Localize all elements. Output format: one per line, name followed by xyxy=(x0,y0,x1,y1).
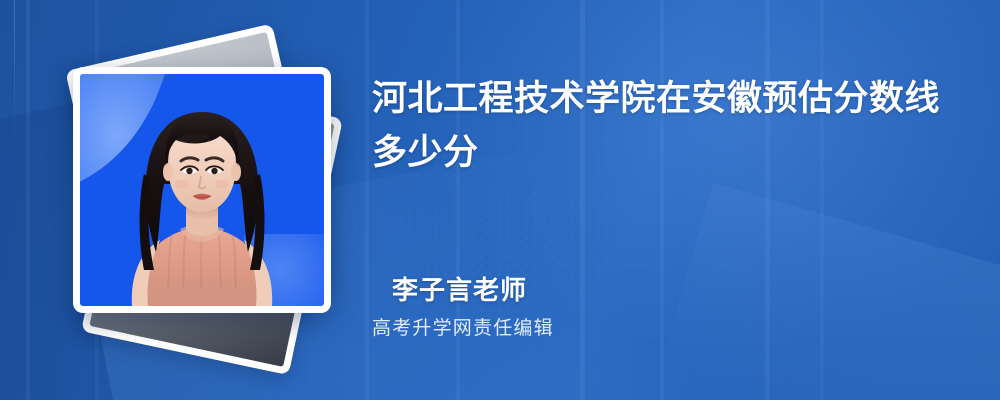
page-title: 河北工程技术学院在安徽预估分数线多少分 xyxy=(372,72,950,180)
author-role: 高考升学网责任编辑 xyxy=(372,314,892,344)
photo-card-stack xyxy=(48,40,348,350)
article-header-banner: 河北工程技术学院在安徽预估分数线多少分 李子言老师 高考升学网责任编辑 xyxy=(0,0,1000,400)
author-name: 李子言老师 xyxy=(372,272,892,308)
author-block: 李子言老师 高考升学网责任编辑 xyxy=(372,272,892,344)
headline-container: 河北工程技术学院在安徽预估分数线多少分 xyxy=(372,72,972,180)
author-portrait-illustration xyxy=(80,74,324,306)
author-photo-card xyxy=(73,67,331,313)
background-accent-line xyxy=(14,0,15,150)
author-photo xyxy=(80,74,324,306)
